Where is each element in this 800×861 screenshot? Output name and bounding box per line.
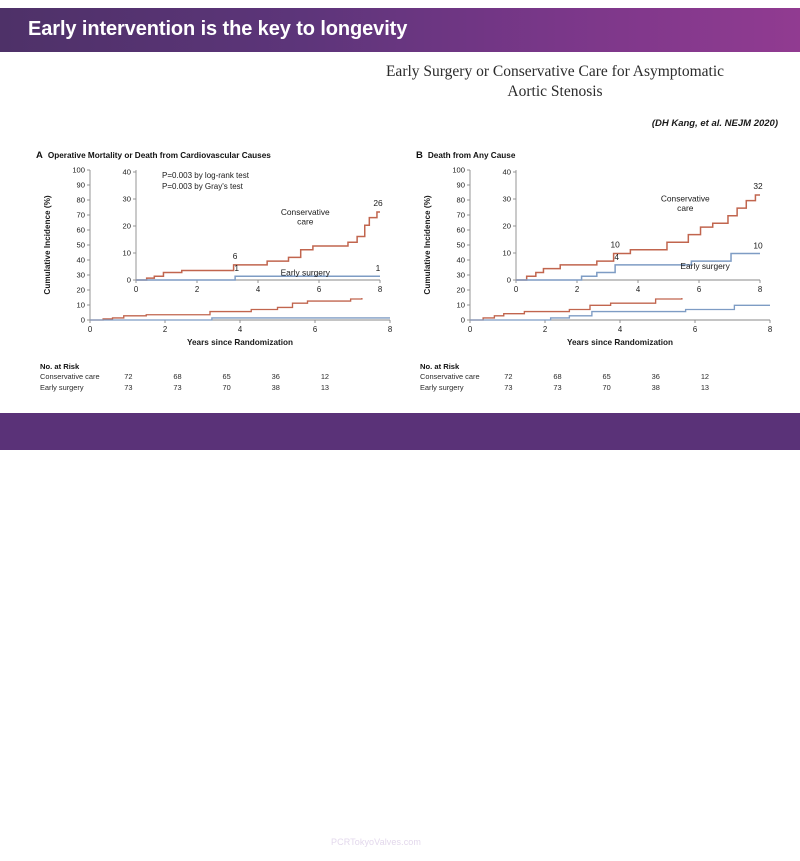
risk-row-value: 72 [504, 372, 553, 383]
risk-row-value: 73 [124, 383, 173, 394]
risk-row-value: 68 [173, 372, 222, 383]
early-surgery-endpoint-value: 1 [376, 263, 381, 273]
slide-title: Early intervention is the key to longevi… [28, 18, 407, 41]
inset-background [490, 162, 774, 298]
main-y-axis-label: Cumulative Incidence (%) [423, 195, 432, 294]
panel-b-heading: BDeath from Any Cause [416, 150, 515, 161]
inset-y-tick-label: 0 [507, 276, 511, 285]
inset-y-tick-label: 40 [123, 168, 131, 177]
p-value-annotation: P=0.003 by Gray's test [162, 182, 244, 191]
panel-b-risk-table: No. at Risk Conservative care7268653612E… [420, 362, 770, 393]
inset-x-tick-label: 8 [378, 285, 382, 294]
panel-b-risk-title: No. at Risk [420, 362, 770, 371]
panel-a-risk-title: No. at Risk [40, 362, 390, 371]
inset-y-tick-label: 10 [123, 249, 131, 258]
inset-x-tick-label: 6 [317, 285, 321, 294]
panel-b-letter: B [416, 150, 423, 161]
main-x-tick-label: 4 [618, 325, 623, 334]
study-subtitle-line2: Aortic Stenosis [330, 82, 780, 102]
inset-x-tick-label: 6 [697, 285, 701, 294]
inset-y-tick-label: 20 [503, 222, 511, 231]
risk-row-value: 12 [701, 372, 750, 383]
early-surgery-endpoint-value: 10 [753, 241, 763, 251]
inset-x-tick-label: 2 [575, 285, 579, 294]
main-y-tick-label: 30 [77, 271, 85, 280]
main-y-tick-label: 90 [457, 181, 465, 190]
risk-row-value: 13 [701, 383, 750, 394]
main-y-tick-label: 40 [77, 256, 85, 265]
main-x-tick-label: 8 [388, 325, 392, 334]
early-surgery-mid-value: 1 [234, 263, 239, 273]
early-surgery-legend-label: Early surgery [281, 268, 331, 278]
panel-b-title: Death from Any Cause [428, 151, 516, 160]
inset-x-tick-label: 8 [758, 285, 762, 294]
risk-row-value: 70 [223, 383, 272, 394]
main-y-tick-label: 80 [77, 196, 85, 205]
p-value-annotation: P=0.003 by log-rank test [162, 171, 250, 180]
conservative-care-legend-label2: care [297, 217, 314, 227]
panel-a-chart: 010203040506070809010002468Cumulative In… [28, 162, 400, 367]
risk-row-value: 68 [553, 372, 602, 383]
main-y-tick-label: 90 [77, 181, 85, 190]
main-y-tick-label: 70 [77, 211, 85, 220]
main-y-tick-label: 80 [457, 196, 465, 205]
study-citation: (DH Kang, et al. NEJM 2020) [380, 118, 778, 129]
conservative-endpoint-value: 32 [753, 181, 763, 191]
risk-row-value: 73 [553, 383, 602, 394]
main-y-tick-label: 20 [457, 286, 465, 295]
risk-row-value: 65 [603, 372, 652, 383]
main-x-tick-label: 2 [163, 325, 167, 334]
main-y-axis-label: Cumulative Incidence (%) [43, 195, 52, 294]
risk-row-value: 70 [603, 383, 652, 394]
main-y-tick-label: 50 [77, 241, 85, 250]
main-y-tick-label: 60 [457, 226, 465, 235]
risk-row-value: 73 [173, 383, 222, 394]
conservative-mid-value: 10 [610, 240, 620, 250]
risk-row-value: 38 [272, 383, 321, 394]
main-y-tick-label: 50 [457, 241, 465, 250]
main-y-tick-label: 40 [457, 256, 465, 265]
panel-b: BDeath from Any Cause 010203040506070809… [408, 150, 788, 408]
main-y-tick-label: 100 [72, 166, 85, 175]
panel-a-risk-grid: Conservative care7268653612Early surgery… [40, 372, 370, 393]
table-row: Early surgery7373703813 [40, 383, 370, 394]
inset-y-tick-label: 20 [123, 222, 131, 231]
conservative-endpoint-value: 26 [373, 198, 383, 208]
main-x-tick-label: 2 [543, 325, 547, 334]
conservative-mid-value: 6 [233, 251, 238, 261]
main-x-tick-label: 0 [468, 325, 473, 334]
inset-y-tick-label: 40 [503, 168, 511, 177]
main-y-tick-label: 10 [77, 301, 85, 310]
inset-y-tick-label: 30 [503, 195, 511, 204]
panel-a-heading: AOperative Mortality or Death from Cardi… [36, 150, 271, 161]
panel-a-letter: A [36, 150, 43, 161]
risk-row-value: 36 [272, 372, 321, 383]
main-x-tick-label: 4 [238, 325, 243, 334]
main-x-axis-label: Years since Randomization [187, 338, 293, 347]
table-row: Conservative care7268653612 [40, 372, 370, 383]
main-y-tick-label: 0 [461, 316, 465, 325]
main-y-tick-label: 20 [77, 286, 85, 295]
inset-y-tick-label: 10 [503, 249, 511, 258]
inset-x-tick-label: 0 [514, 285, 519, 294]
slide-header-banner: Early intervention is the key to longevi… [0, 8, 800, 52]
panel-a: AOperative Mortality or Death from Cardi… [28, 150, 408, 408]
logo-brand-sub: tokyo valves [29, 848, 87, 858]
inset-x-tick-label: 4 [256, 285, 261, 294]
main-x-axis-label: Years since Randomization [567, 338, 673, 347]
main-y-tick-label: 30 [457, 271, 465, 280]
study-subtitle: Early Surgery or Conservative Care for A… [330, 62, 780, 102]
panel-a-title: Operative Mortality or Death from Cardio… [48, 151, 271, 160]
risk-row-value: 36 [652, 372, 701, 383]
main-x-tick-label: 8 [768, 325, 772, 334]
inset-x-tick-label: 0 [134, 285, 139, 294]
panel-b-svg: 010203040506070809010002468Cumulative In… [408, 162, 780, 362]
main-y-tick-label: 10 [457, 301, 465, 310]
main-y-tick-label: 70 [457, 211, 465, 220]
table-row: Early surgery7373703813 [420, 383, 750, 394]
early-surgery-legend-label: Early surgery [680, 261, 730, 271]
main-y-tick-label: 60 [77, 226, 85, 235]
main-y-tick-label: 0 [81, 316, 85, 325]
inset-y-tick-label: 30 [123, 195, 131, 204]
inset-y-tick-label: 0 [127, 276, 131, 285]
inset-x-tick-label: 2 [195, 285, 199, 294]
risk-row-label: Conservative care [40, 372, 124, 383]
panel-b-chart: 010203040506070809010002468Cumulative In… [408, 162, 780, 367]
risk-row-value: 72 [124, 372, 173, 383]
risk-row-label: Early surgery [420, 383, 504, 394]
slide-footer-bar: 2024 PCR tokyo valves PCRTokyoValves.com [0, 413, 800, 450]
conservative-care-legend-label2: care [677, 203, 694, 213]
risk-row-label: Early surgery [40, 383, 124, 394]
risk-row-value: 65 [223, 372, 272, 383]
footer-website-url: PCRTokyoValves.com [331, 837, 421, 847]
main-x-tick-label: 0 [88, 325, 93, 334]
main-curve-early-surgery [470, 305, 770, 320]
main-y-tick-label: 100 [452, 166, 465, 175]
risk-row-label: Conservative care [420, 372, 504, 383]
logo-year-label: 2024 [14, 833, 24, 859]
panel-b-risk-grid: Conservative care7268653612Early surgery… [420, 372, 750, 393]
pcr-logo: 2024 PCR tokyo valves [14, 831, 134, 861]
risk-row-value: 73 [504, 383, 553, 394]
main-x-tick-label: 6 [693, 325, 697, 334]
inset-x-tick-label: 4 [636, 285, 641, 294]
main-x-tick-label: 6 [313, 325, 317, 334]
panel-a-risk-table: No. at Risk Conservative care7268653612E… [40, 362, 390, 393]
early-surgery-mid-value: 4 [614, 252, 619, 262]
panel-a-svg: 010203040506070809010002468Cumulative In… [28, 162, 400, 362]
risk-row-value: 13 [321, 383, 370, 394]
table-row: Conservative care7268653612 [420, 372, 750, 383]
risk-row-value: 12 [321, 372, 370, 383]
study-subtitle-line1: Early Surgery or Conservative Care for A… [330, 62, 780, 82]
risk-row-value: 38 [652, 383, 701, 394]
